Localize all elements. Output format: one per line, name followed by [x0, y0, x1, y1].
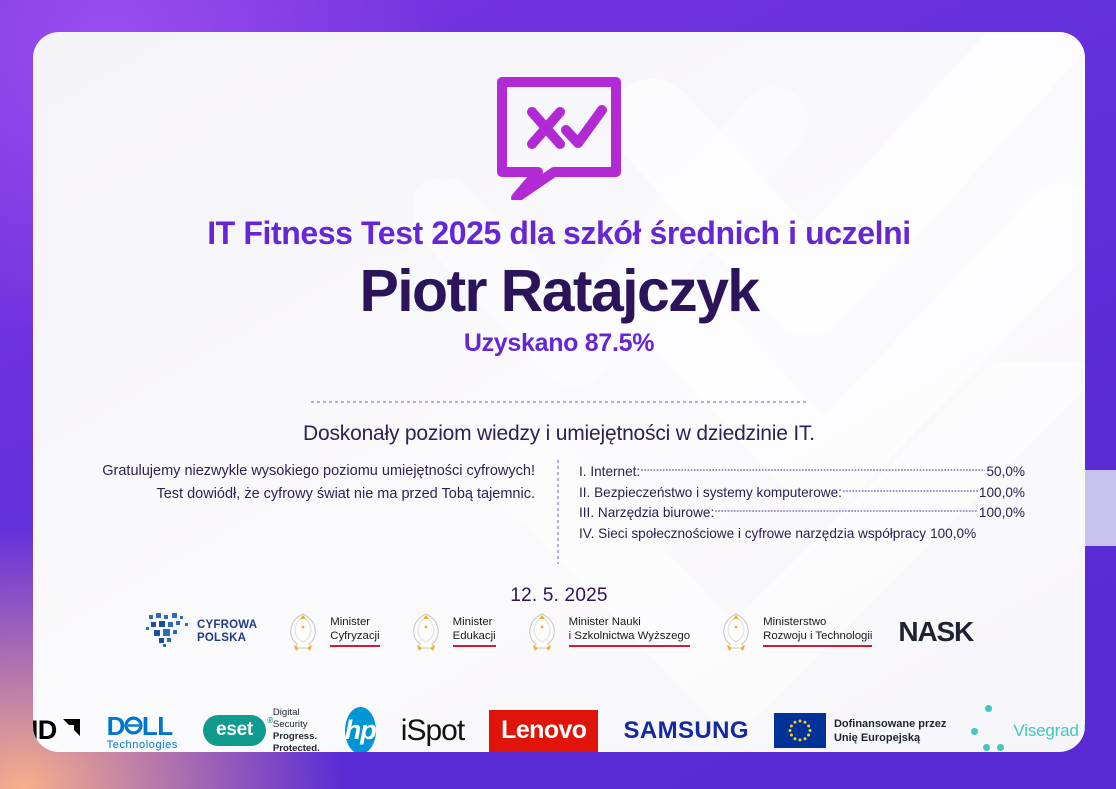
eset-tagline: Digital Security Progress. Protected.: [273, 707, 320, 752]
polish-eagle-icon: [522, 610, 562, 654]
result-row: III. Narzędzia biurowe: 100,0%: [579, 503, 1025, 524]
speech-bubble-x-check-icon: [486, 72, 632, 205]
brand-logo: [33, 72, 1085, 205]
congratulation-message: Gratulujemy niezwykle wysokiego poziomu …: [95, 460, 557, 564]
result-label: III. Narzędzia biurowe:: [579, 503, 714, 524]
cyfrowa-polska-dots-icon: [145, 609, 191, 654]
polish-eagle-icon: [283, 610, 323, 654]
level-statement: Doskonały poziom wiedzy i umiejętności w…: [33, 422, 1085, 446]
leader-dots: [641, 466, 985, 474]
certificate-title: IT Fitness Test 2025 dla szkół średnich …: [33, 215, 1085, 252]
result-label: IV. Sieci społecznościowe i cyfrowe narz…: [579, 524, 926, 545]
amd-wordmark: AMD: [33, 715, 57, 746]
logo-minister-cyfryzacji: MinisterCyfryzacji: [283, 610, 379, 654]
certificate-card: IT Fitness Test 2025 dla szkół średnich …: [33, 32, 1085, 752]
logo-hp: hp: [345, 707, 376, 752]
cyfrowa-polska-label: CYFROWAPOLSKA: [197, 619, 257, 645]
leader-dots: [843, 487, 978, 495]
logo-ministerstwo-rozwoju: MinisterstwoRozwoju i Technologii: [716, 610, 872, 654]
result-label: I. Internet:: [579, 462, 640, 483]
polish-eagle-icon: [406, 610, 446, 654]
ministry-label: Minister Naukii Szkolnictwa Wyższego: [569, 616, 690, 648]
logo-nask: NASK: [898, 616, 973, 648]
amd-arrow-icon: [60, 715, 82, 746]
eu-funding-label: Dofinansowane przezUnię Europejską: [834, 717, 946, 746]
results-list: I. Internet: 50,0% II. Bezpieczeństwo i …: [559, 460, 1025, 564]
issue-date: 12. 5. 2025: [33, 585, 1085, 607]
eset-wordmark: eset®: [203, 715, 266, 746]
horizontal-divider: [311, 401, 807, 403]
logo-visegrad-fund: Visegrad Fund: [971, 711, 1085, 751]
logo-european-union: Dofinansowane przezUnię Europejską: [774, 713, 946, 748]
eu-flag-icon: [774, 713, 826, 748]
score-label: Uzyskano 87.5%: [33, 329, 1085, 358]
leader-dots: [715, 507, 978, 515]
heading-block: IT Fitness Test 2025 dla szkół średnich …: [33, 215, 1085, 358]
ministry-label: MinisterstwoRozwoju i Technologii: [763, 616, 872, 648]
visegrad-label: Visegrad Fund: [1013, 721, 1085, 741]
logo-samsung: SAMSUNG: [623, 717, 748, 745]
logo-eset: eset® Digital Security Progress. Protect…: [203, 707, 320, 752]
result-value: 100,0%: [979, 503, 1025, 524]
hp-wordmark: hp: [345, 715, 376, 746]
logo-amd: AMD: [33, 715, 82, 746]
logo-minister-nauki: Minister Naukii Szkolnictwa Wyższego: [522, 610, 690, 654]
ministry-label: MinisterEdukacji: [453, 616, 496, 648]
dell-wordmark: D LL: [107, 711, 178, 742]
logo-dell: D LL Technologies: [107, 711, 178, 751]
body-columns: Gratulujemy niezwykle wysokiego poziomu …: [95, 460, 1025, 564]
result-row: I. Internet: 50,0%: [579, 462, 1025, 483]
dell-ring-icon: [124, 711, 143, 742]
polish-eagle-icon: [716, 610, 756, 654]
result-row: IV. Sieci społecznościowe i cyfrowe narz…: [579, 524, 1025, 545]
logo-cyfrowa-polska: CYFROWAPOLSKA: [145, 609, 257, 654]
result-label: II. Bezpieczeństwo i systemy komputerowe…: [579, 483, 842, 504]
result-row: II. Bezpieczeństwo i systemy komputerowe…: [579, 483, 1025, 504]
result-value: 100,0%: [979, 483, 1025, 504]
sponsor-logo-row: AMD D LL: [33, 707, 1085, 752]
ministry-label: MinisterCyfryzacji: [330, 616, 379, 648]
result-value: 50,0%: [986, 462, 1025, 483]
result-value: 100,0%: [930, 524, 976, 545]
dell-technologies-label: Technologies: [107, 739, 178, 751]
recipient-name: Piotr Ratajczyk: [33, 258, 1085, 324]
logo-ispot: iSpot: [401, 714, 464, 748]
visegrad-dots-icon: [971, 711, 1005, 751]
logo-lenovo: Lenovo: [489, 710, 598, 752]
ministry-logo-row: CYFROWAPOLSKA MinisterCyfryzacji: [33, 609, 1085, 654]
leader-dots: [927, 528, 929, 536]
logo-minister-edukacji: MinisterEdukacji: [406, 610, 496, 654]
